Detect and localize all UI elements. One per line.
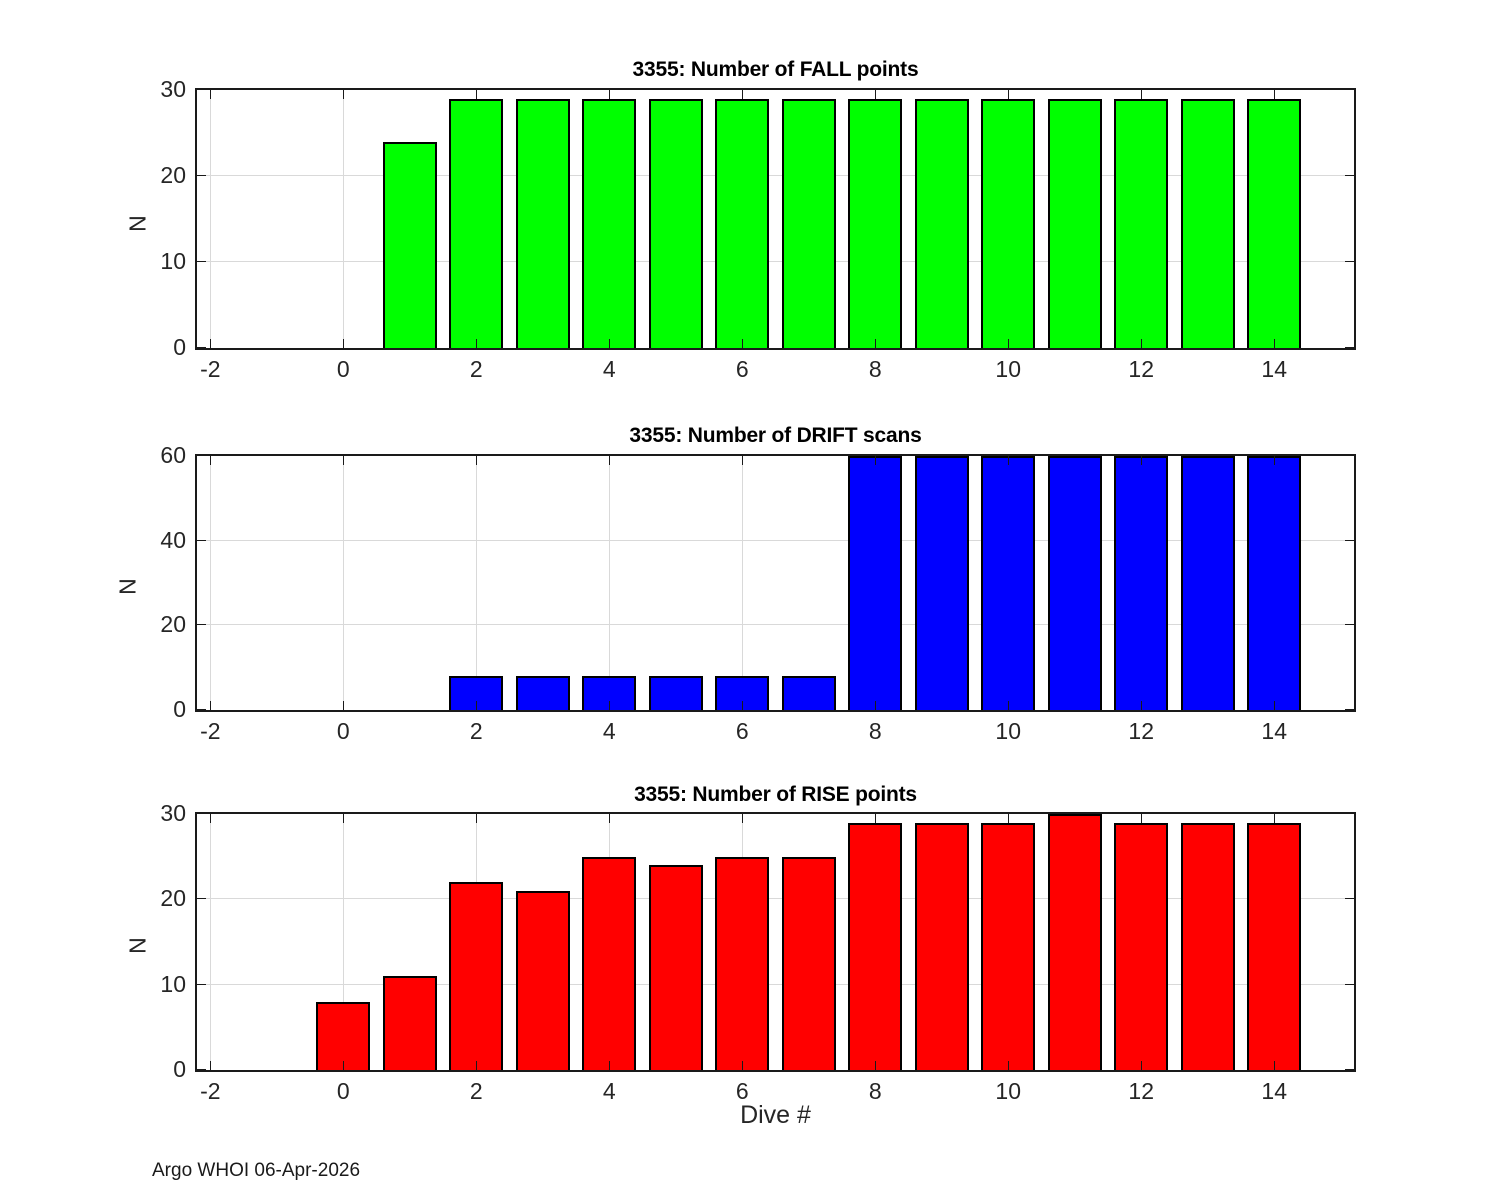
- x-tick-label: 12: [1128, 1080, 1154, 1103]
- x-tick-mark: [343, 1061, 344, 1070]
- x-tick-label: 4: [603, 358, 616, 381]
- figure-canvas: 3355: Number of FALL points N 3355: Numb…: [0, 0, 1500, 1200]
- y-tick-label: 30: [110, 78, 186, 101]
- y-tick-mark: [197, 540, 206, 541]
- x-tick-label: -2: [200, 358, 220, 381]
- y-tick-label-holder: 20: [110, 164, 186, 187]
- x-tick-label: 8: [869, 720, 882, 743]
- x-tick-mark: [875, 701, 876, 710]
- x-tick-mark: [476, 814, 477, 823]
- x-tick-mark: [210, 456, 211, 465]
- y-tick-mark: [197, 984, 206, 985]
- bar-rise-6: [715, 857, 769, 1070]
- y-tick-mark: [1345, 709, 1354, 710]
- x-tick-label: 4: [603, 1080, 616, 1103]
- bar-rise-14: [1247, 823, 1301, 1070]
- y-tick-label-holder: 10: [110, 250, 186, 273]
- x-tick-label: 8: [869, 1080, 882, 1103]
- bar-rise-11: [1048, 814, 1102, 1070]
- x-tick-mark: [1141, 701, 1142, 710]
- x-tick-label: 6: [736, 1080, 749, 1103]
- y-tick-mark: [197, 813, 206, 814]
- plot-area-rise: [195, 812, 1356, 1072]
- x-tick-mark: [343, 814, 344, 823]
- x-tick-mark: [210, 814, 211, 823]
- x-tick-mark: [742, 814, 743, 823]
- bar-rise-7: [782, 857, 836, 1070]
- x-tick-label: 2: [470, 358, 483, 381]
- x-tick-mark: [476, 701, 477, 710]
- bar-rise-12: [1114, 823, 1168, 1070]
- y-tick-mark: [1345, 540, 1354, 541]
- y-tick-label: 20: [110, 164, 186, 187]
- y-tick-mark: [1345, 624, 1354, 625]
- bar-drift-9: [915, 456, 969, 710]
- x-tick-mark: [1008, 814, 1009, 823]
- x-tick-label: 14: [1261, 358, 1287, 381]
- y-tick-label: 0: [110, 698, 186, 721]
- bar-drift-13: [1181, 456, 1235, 710]
- y-tick-label-holder: 0: [110, 1058, 186, 1081]
- bar-drift-8: [848, 456, 902, 710]
- gridline-vertical: [343, 456, 344, 710]
- x-tick-label: 2: [470, 1080, 483, 1103]
- x-tick-mark: [343, 456, 344, 465]
- bar-rise-8: [848, 823, 902, 1070]
- x-tick-mark: [210, 1061, 211, 1070]
- y-tick-label-holder: 10: [110, 973, 186, 996]
- bar-drift-3: [516, 676, 570, 710]
- chart-title-rise: 3355: Number of RISE points: [195, 783, 1356, 807]
- bar-rise-13: [1181, 823, 1235, 1070]
- bar-rise-1: [383, 976, 437, 1070]
- y-tick-mark: [197, 624, 206, 625]
- gridline-vertical: [742, 456, 743, 710]
- x-tick-mark: [1274, 701, 1275, 710]
- y-tick-label: 20: [110, 887, 186, 910]
- x-tick-mark: [742, 1061, 743, 1070]
- x-tick-label: 6: [736, 358, 749, 381]
- y-tick-mark: [197, 898, 206, 899]
- x-tick-mark: [609, 1061, 610, 1070]
- y-tick-label: 0: [110, 1058, 186, 1081]
- y-tick-mark: [1345, 813, 1354, 814]
- bar-drift-12: [1114, 456, 1168, 710]
- x-tick-label: 4: [603, 720, 616, 743]
- x-tick-label: 8: [869, 358, 882, 381]
- x-tick-label: 12: [1128, 720, 1154, 743]
- y-tick-label: 20: [110, 613, 186, 636]
- x-tick-label: 0: [337, 720, 350, 743]
- x-tick-label: 10: [995, 358, 1021, 381]
- x-tick-mark: [1274, 456, 1275, 465]
- x-tick-mark: [476, 1061, 477, 1070]
- bar-rise-10: [981, 823, 1035, 1070]
- y-tick-label: 0: [110, 336, 186, 359]
- y-tick-label-holder: 30: [110, 78, 186, 101]
- x-tick-mark: [875, 814, 876, 823]
- bar-drift-5: [649, 676, 703, 710]
- y-tick-mark: [1345, 1069, 1354, 1070]
- x-tick-mark: [343, 701, 344, 710]
- bar-drift-7: [782, 676, 836, 710]
- x-tick-label: 0: [337, 1080, 350, 1103]
- bar-rise-2: [449, 882, 503, 1070]
- gridline-vertical: [609, 456, 610, 710]
- chart-title-drift: 3355: Number of DRIFT scans: [195, 424, 1356, 448]
- y-axis-label-drift: N: [115, 567, 142, 607]
- y-tick-label-holder: 60: [110, 444, 186, 467]
- x-tick-mark: [1008, 1061, 1009, 1070]
- x-tick-label: 6: [736, 720, 749, 743]
- y-tick-label: 60: [110, 444, 186, 467]
- bar-drift-14: [1247, 456, 1301, 710]
- x-tick-mark: [1008, 456, 1009, 465]
- bar-rise-0: [316, 1002, 370, 1070]
- x-tick-mark: [1141, 1061, 1142, 1070]
- x-tick-label: 10: [995, 720, 1021, 743]
- y-tick-label-holder: 30: [110, 802, 186, 825]
- gridline-vertical: [210, 456, 211, 710]
- y-tick-label: 10: [110, 973, 186, 996]
- footer-credit: Argo WHOI 06-Apr-2026: [152, 1160, 360, 1182]
- x-tick-mark: [1274, 1061, 1275, 1070]
- x-tick-label: 0: [337, 358, 350, 381]
- x-tick-label: 2: [470, 720, 483, 743]
- y-tick-mark: [197, 1069, 206, 1070]
- y-tick-mark: [197, 455, 206, 456]
- x-tick-label: 10: [995, 1080, 1021, 1103]
- x-tick-label: 14: [1261, 720, 1287, 743]
- x-axis-label: Dive #: [195, 1101, 1356, 1130]
- x-tick-mark: [742, 456, 743, 465]
- y-tick-mark: [1345, 455, 1354, 456]
- gridline-vertical: [210, 814, 211, 1070]
- bar-drift-11: [1048, 456, 1102, 710]
- x-tick-mark: [609, 456, 610, 465]
- x-tick-mark: [210, 701, 211, 710]
- x-tick-mark: [1008, 701, 1009, 710]
- x-tick-mark: [875, 456, 876, 465]
- x-tick-mark: [1274, 814, 1275, 823]
- y-tick-label-holder: 0: [110, 698, 186, 721]
- x-tick-label: 14: [1261, 1080, 1287, 1103]
- y-tick-label-holder: 40: [110, 529, 186, 552]
- y-tick-mark: [1345, 984, 1354, 985]
- bar-rise-3: [516, 891, 570, 1070]
- bar-rise-5: [649, 865, 703, 1070]
- panel-rise: 3355: Number of RISE points N Dive #: [0, 0, 1500, 400]
- bar-rise-4: [582, 857, 636, 1070]
- x-tick-mark: [609, 701, 610, 710]
- y-tick-label: 10: [110, 250, 186, 273]
- bar-drift-10: [981, 456, 1035, 710]
- x-tick-mark: [1141, 456, 1142, 465]
- x-tick-mark: [476, 456, 477, 465]
- x-tick-mark: [1141, 814, 1142, 823]
- y-tick-label-holder: 0: [110, 336, 186, 359]
- bar-rise-9: [915, 823, 969, 1070]
- x-tick-mark: [609, 814, 610, 823]
- y-axis-label-rise: N: [125, 926, 152, 966]
- plot-area-drift: [195, 454, 1356, 712]
- x-tick-mark: [742, 701, 743, 710]
- gridline-vertical: [476, 456, 477, 710]
- y-tick-label-holder: 20: [110, 887, 186, 910]
- y-tick-mark: [197, 709, 206, 710]
- x-tick-label: 12: [1128, 358, 1154, 381]
- y-tick-label: 30: [110, 802, 186, 825]
- x-tick-label: -2: [200, 1080, 220, 1103]
- y-tick-label-holder: 20: [110, 613, 186, 636]
- x-tick-mark: [875, 1061, 876, 1070]
- x-tick-label: -2: [200, 720, 220, 743]
- y-tick-mark: [1345, 898, 1354, 899]
- y-tick-label: 40: [110, 529, 186, 552]
